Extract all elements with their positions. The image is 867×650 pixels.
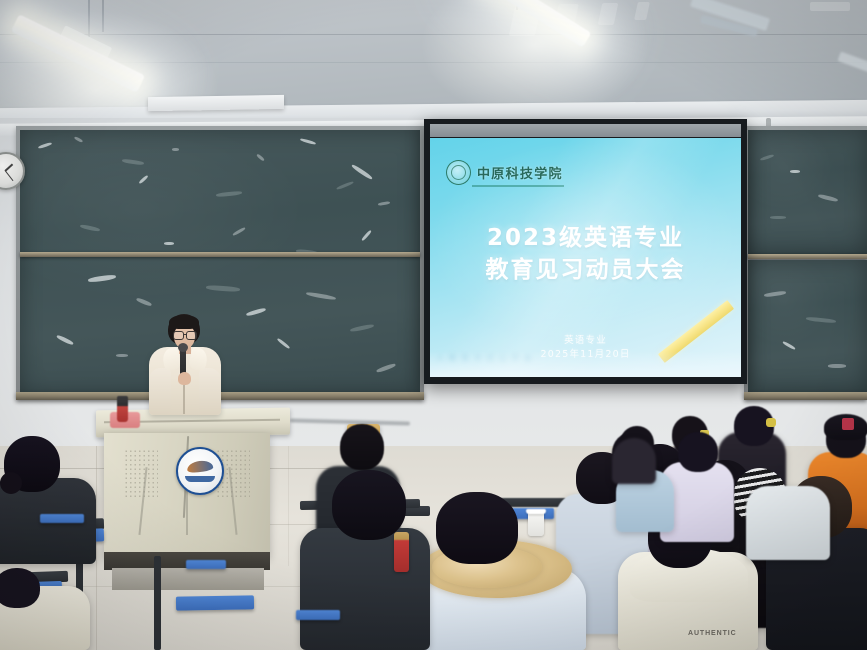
white-paper-cup (528, 512, 544, 536)
slide-header: 中原科技学院 (446, 160, 563, 185)
desk-seat-sliver-b (296, 610, 340, 620)
slide-title-line2: 教育见习动员大会 (430, 254, 741, 286)
paper-cup-lid (526, 509, 546, 514)
school-crest-emblem (176, 447, 224, 495)
podium-plinth (112, 568, 264, 590)
screen-top-bar (430, 124, 741, 137)
microphone-head (178, 343, 188, 352)
blackboard-right-upper (748, 130, 867, 254)
water-bottle (117, 396, 128, 422)
speaker-hand (178, 372, 191, 385)
jacket-brand-text: AUTHENTIC (688, 630, 737, 637)
university-name: 中原科技学院 (477, 163, 563, 182)
desk-seat-mid (176, 595, 254, 610)
university-seal-icon (446, 160, 471, 185)
slide-title-line1: 2023级英语专业 (430, 222, 741, 254)
podium-crease-center (186, 491, 188, 535)
slide-bottom-glow (430, 351, 741, 377)
speaker-arm-right (199, 368, 221, 414)
podium-speaker-grill-left (124, 449, 158, 497)
speaker-glasses (173, 331, 196, 338)
blackboard-tray-right (744, 392, 867, 400)
classroom-photo-scene: 中原科技学院 2023级英语专业 教育见习动员大会 英语专业 2025年11月2… (0, 0, 867, 650)
blackboard-left (20, 130, 420, 394)
blackboard-rail-left (20, 252, 420, 257)
red-thermos (394, 532, 409, 572)
blackboard-rail-right (748, 254, 867, 259)
speaker-arm-left (149, 368, 171, 414)
slide-title: 2023级英语专业 教育见习动员大会 (430, 222, 741, 286)
slide-subtitle-major: 英语专业 (430, 334, 741, 348)
blackboard-right-lower (748, 260, 867, 392)
header-underline (472, 185, 564, 187)
speaker-hair-fringe (169, 315, 199, 329)
presentation-slide: 中原科技学院 2023级英语专业 教育见习动员大会 英语专业 2025年11月2… (430, 138, 741, 377)
projection-screen: 中原科技学院 2023级英语专业 教育见习动员大会 英语专业 2025年11月2… (424, 119, 747, 384)
desk-seat-sliver-a (186, 560, 226, 569)
desk-seat-sliver-c (40, 514, 84, 523)
desk-frame-mid (154, 556, 161, 650)
projector-valance (148, 95, 284, 111)
